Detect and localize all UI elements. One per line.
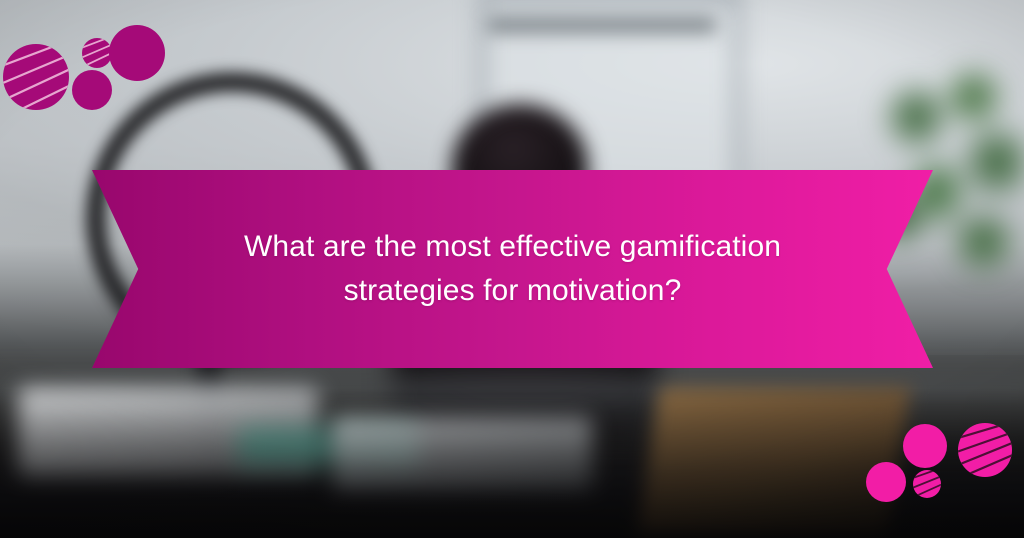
decorative-circle-small-striped-topleft bbox=[82, 38, 112, 68]
question-ribbon-banner: What are the most effective gamification… bbox=[92, 170, 933, 368]
decorative-circle-large-striped-bottomright bbox=[958, 423, 1012, 477]
decorative-circle-small-striped-bottomright bbox=[913, 470, 941, 498]
banner-canvas: What are the most effective gamification… bbox=[0, 0, 1024, 538]
question-text: What are the most effective gamification… bbox=[193, 225, 833, 314]
decorative-circle-large-striped-topleft bbox=[3, 44, 69, 110]
decorative-circle-medium-solid-bottomright bbox=[903, 424, 947, 468]
decorative-circle-medium-solid-topleft bbox=[109, 25, 165, 81]
question-line-1: What are the most effective gamification bbox=[244, 230, 781, 263]
decorative-circle-small-solid-topleft bbox=[72, 70, 112, 110]
decorative-circle-small-solid-bottomright bbox=[866, 462, 906, 502]
question-line-2: strategies for motivation? bbox=[344, 274, 682, 307]
